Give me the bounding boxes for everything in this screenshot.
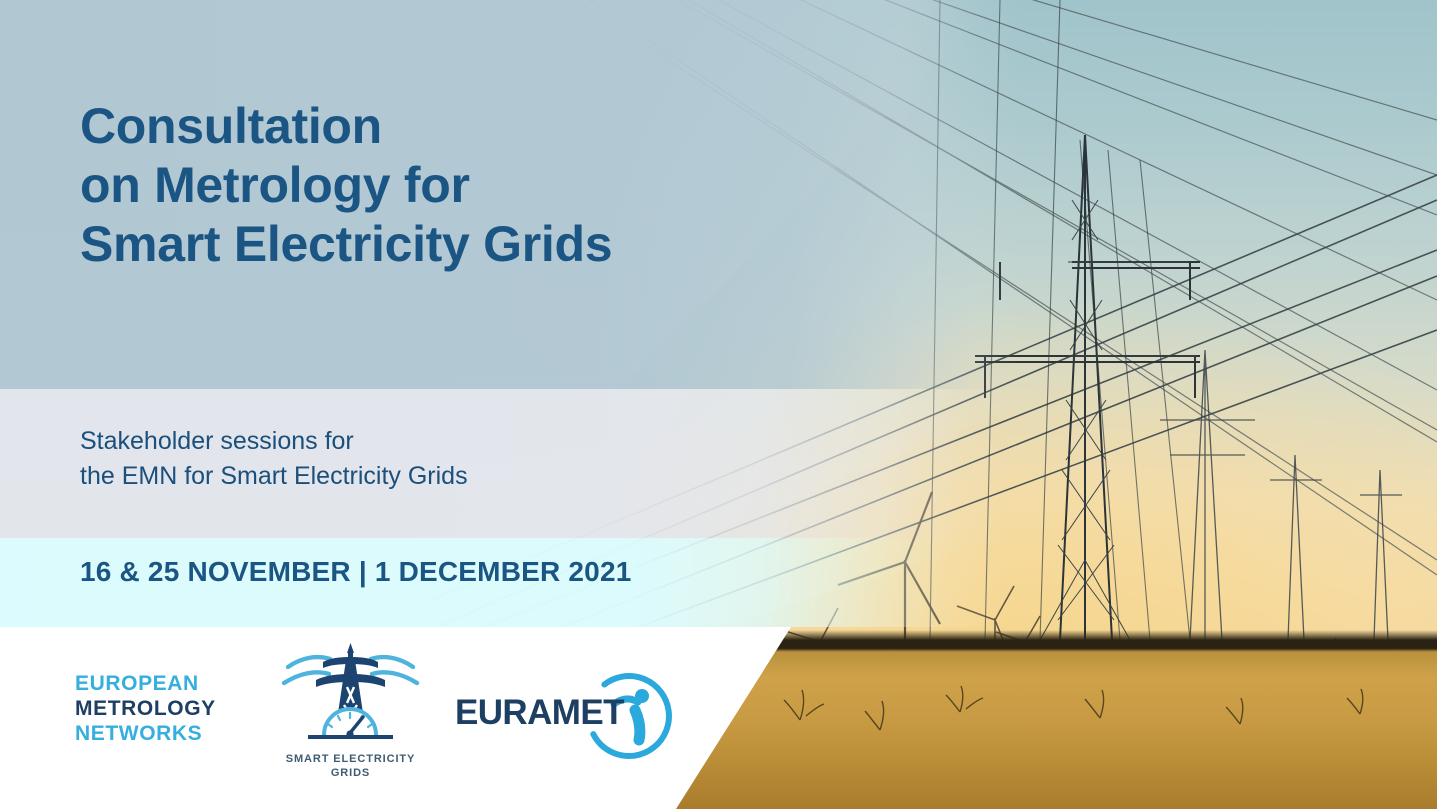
pylon-gauge-icon xyxy=(268,639,433,749)
poster-title: Consultation on Metrology for Smart Elec… xyxy=(80,97,612,274)
logo-strip: EUROPEAN METROLOGY NETWORKS xyxy=(0,627,791,809)
logo-smart-electricity-grids: SMART ELECTRICITY GRIDS xyxy=(268,639,433,799)
euramet-wordmark: EURAMET xyxy=(455,693,624,733)
poster-canvas: Consultation on Metrology for Smart Elec… xyxy=(0,0,1437,809)
emn-line-european: EUROPEAN xyxy=(75,671,216,696)
poster-subtitle: Stakeholder sessions for the EMN for Sma… xyxy=(80,424,468,494)
logo-european-metrology-networks: EUROPEAN METROLOGY NETWORKS xyxy=(75,671,216,746)
logo-euramet: EURAMET xyxy=(455,679,645,754)
emn-line-metrology: METROLOGY xyxy=(75,696,216,721)
emn-line-networks: NETWORKS xyxy=(75,721,216,746)
poster-dates: 16 & 25 NOVEMBER | 1 DECEMBER 2021 xyxy=(80,556,632,588)
smart-electricity-grids-caption: SMART ELECTRICITY GRIDS xyxy=(268,752,433,780)
